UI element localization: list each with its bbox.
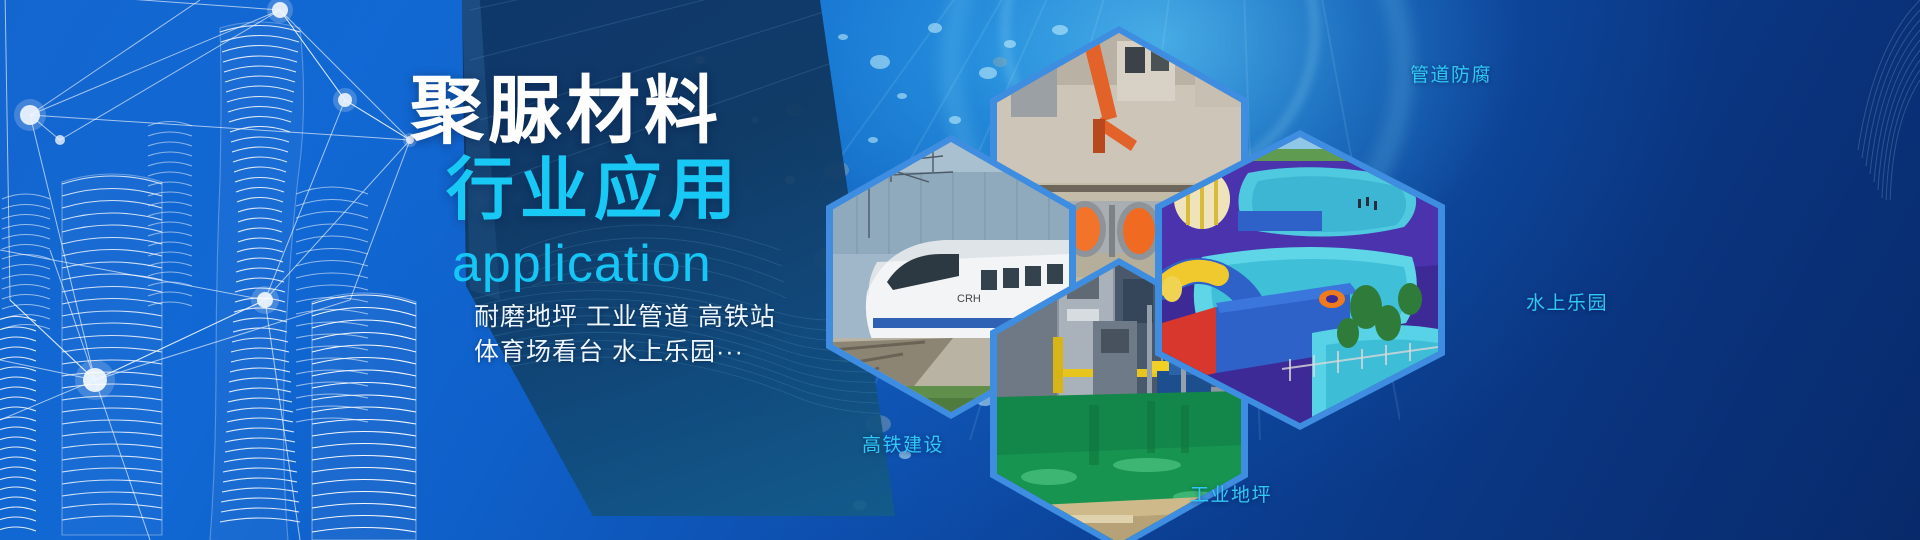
page-subtitle: 行业应用 [446, 156, 742, 224]
hexagon-label-waterpark: 水上乐园 [1526, 288, 1608, 315]
hexagon-label-flooring: 工业地坪 [1190, 480, 1272, 507]
page-title-en: application [452, 238, 712, 290]
headline-text-block: 聚脲材料 行业应用 application 耐磨地坪 工业管道 高铁站 体育场看… [0, 0, 900, 540]
hexagon-cluster: 管道防腐 [790, 0, 1920, 540]
hexagon-label-pipeline: 管道防腐 [1410, 60, 1492, 87]
corner-swoosh-icon [1770, 0, 1920, 200]
banner-root: 聚脲材料 行业应用 application 耐磨地坪 工业管道 高铁站 体育场看… [0, 0, 1920, 540]
description-line-2: 体育场看台 水上乐园··· [474, 335, 776, 370]
description-line-1: 耐磨地坪 工业管道 高铁站 [474, 300, 776, 335]
hexagon-label-railway: 高铁建设 [862, 430, 944, 457]
page-description: 耐磨地坪 工业管道 高铁站 体育场看台 水上乐园··· [474, 300, 776, 369]
svg-text:CRH: CRH [957, 293, 981, 305]
page-title: 聚脲材料 [410, 74, 722, 148]
